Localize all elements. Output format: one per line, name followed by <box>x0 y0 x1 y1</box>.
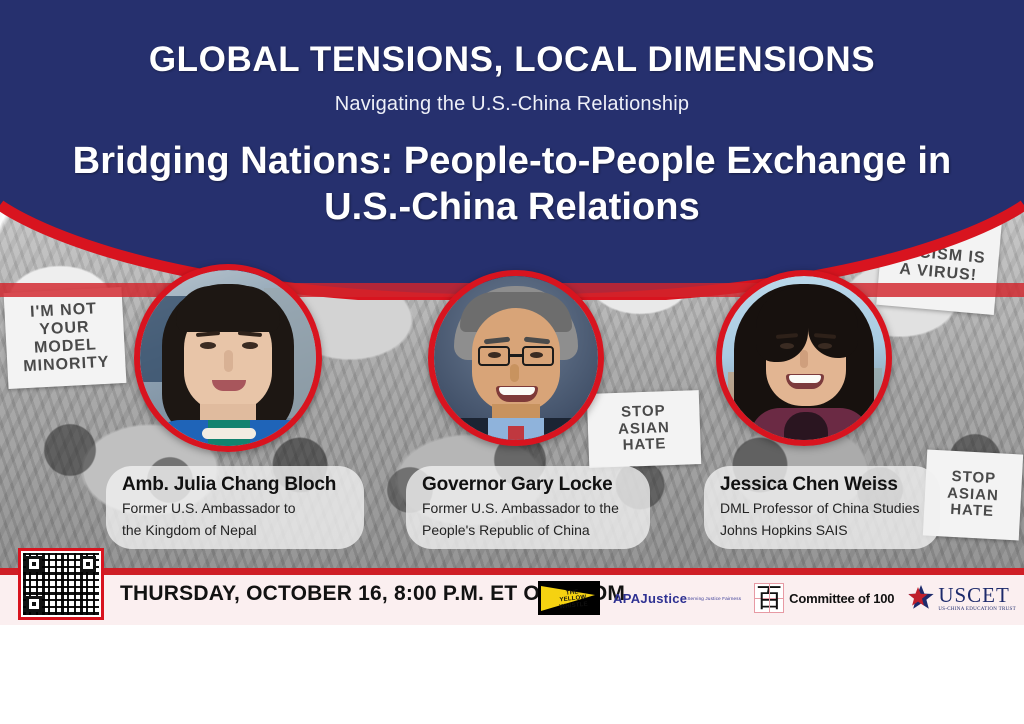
speaker-name-1: Governor Gary Locke <box>422 474 634 496</box>
apa-line-2: Justice <box>640 592 687 605</box>
event-title: Bridging Nations: People-to-People Excha… <box>0 138 1024 231</box>
event-title-line-2: U.S.-China Relations <box>22 184 1002 230</box>
speaker-role-2-line-2: Johns Hopkins SAIS <box>720 521 924 540</box>
logo-uscet[interactable]: USCET US-CHINA EDUCATION TRUST <box>907 584 1016 612</box>
speaker-name-2: Jessica Chen Weiss <box>720 474 924 496</box>
speaker-label-1: Governor Gary Locke Former U.S. Ambassad… <box>406 466 650 549</box>
logo-committee-of-100[interactable]: 百 Committee of 100 <box>754 583 894 613</box>
apa-tagline: Serving Justice Fairness <box>687 597 741 602</box>
qr-finder-bottom-left <box>26 596 42 612</box>
uscet-wordmark: USCET US-CHINA EDUCATION TRUST <box>938 585 1016 612</box>
qr-finder-top-right <box>80 556 96 572</box>
uscet-subtitle: US-CHINA EDUCATION TRUST <box>938 607 1016 612</box>
event-series-title: GLOBAL TENSIONS, LOCAL DIMENSIONS <box>0 40 1024 80</box>
qr-finder-top-left <box>26 556 42 572</box>
protest-sign-stop-asian-hate-center: STOP ASIAN HATE <box>587 390 702 468</box>
protest-sign-model-minority: I'M NOT YOUR MODEL MINORITY <box>4 287 127 389</box>
sponsor-logos: THE YELLOW WHISTLE APA Justice Serving J… <box>538 572 1016 624</box>
apa-line-1: APA <box>613 592 640 605</box>
speaker-role-0-line-2: the Kingdom of Nepal <box>122 521 348 540</box>
logo-apa-justice[interactable]: APA Justice Serving Justice Fairness <box>613 592 741 605</box>
header-text-block: GLOBAL TENSIONS, LOCAL DIMENSIONS Naviga… <box>0 0 1024 260</box>
uscet-name: USCET <box>938 585 1016 606</box>
event-series-subtitle: Navigating the U.S.-China Relationship <box>0 93 1024 116</box>
portrait-jessica-chen-weiss <box>716 270 892 446</box>
uscet-star-icon <box>907 584 935 612</box>
portrait-julia-chang-bloch <box>134 264 322 452</box>
committee-of-100-glyph-icon: 百 <box>754 583 784 613</box>
speaker-role-1-line-1: Former U.S. Ambassador to the <box>422 499 634 518</box>
committee-of-100-wordmark: Committee of 100 <box>789 591 894 606</box>
speaker-role-1-line-2: People's Republic of China <box>422 521 634 540</box>
event-flyer: I'M NOT YOUR MODEL MINORITY RACISM IS A … <box>0 0 1024 625</box>
portrait-gary-locke <box>428 270 604 446</box>
speaker-label-2: Jessica Chen Weiss DML Professor of Chin… <box>704 466 940 549</box>
registration-qr-code[interactable] <box>18 548 104 620</box>
c100-character: 百 <box>755 584 783 612</box>
speaker-name-0: Amb. Julia Chang Bloch <box>122 474 348 496</box>
speaker-role-2-line-1: DML Professor of China Studies <box>720 499 924 518</box>
logo-the-yellow-whistle[interactable]: THE YELLOW WHISTLE <box>538 581 600 615</box>
event-title-line-1: Bridging Nations: People-to-People Excha… <box>22 138 1002 184</box>
speaker-role-0-line-1: Former U.S. Ambassador to <box>122 499 348 518</box>
speaker-label-0: Amb. Julia Chang Bloch Former U.S. Ambas… <box>106 466 364 549</box>
